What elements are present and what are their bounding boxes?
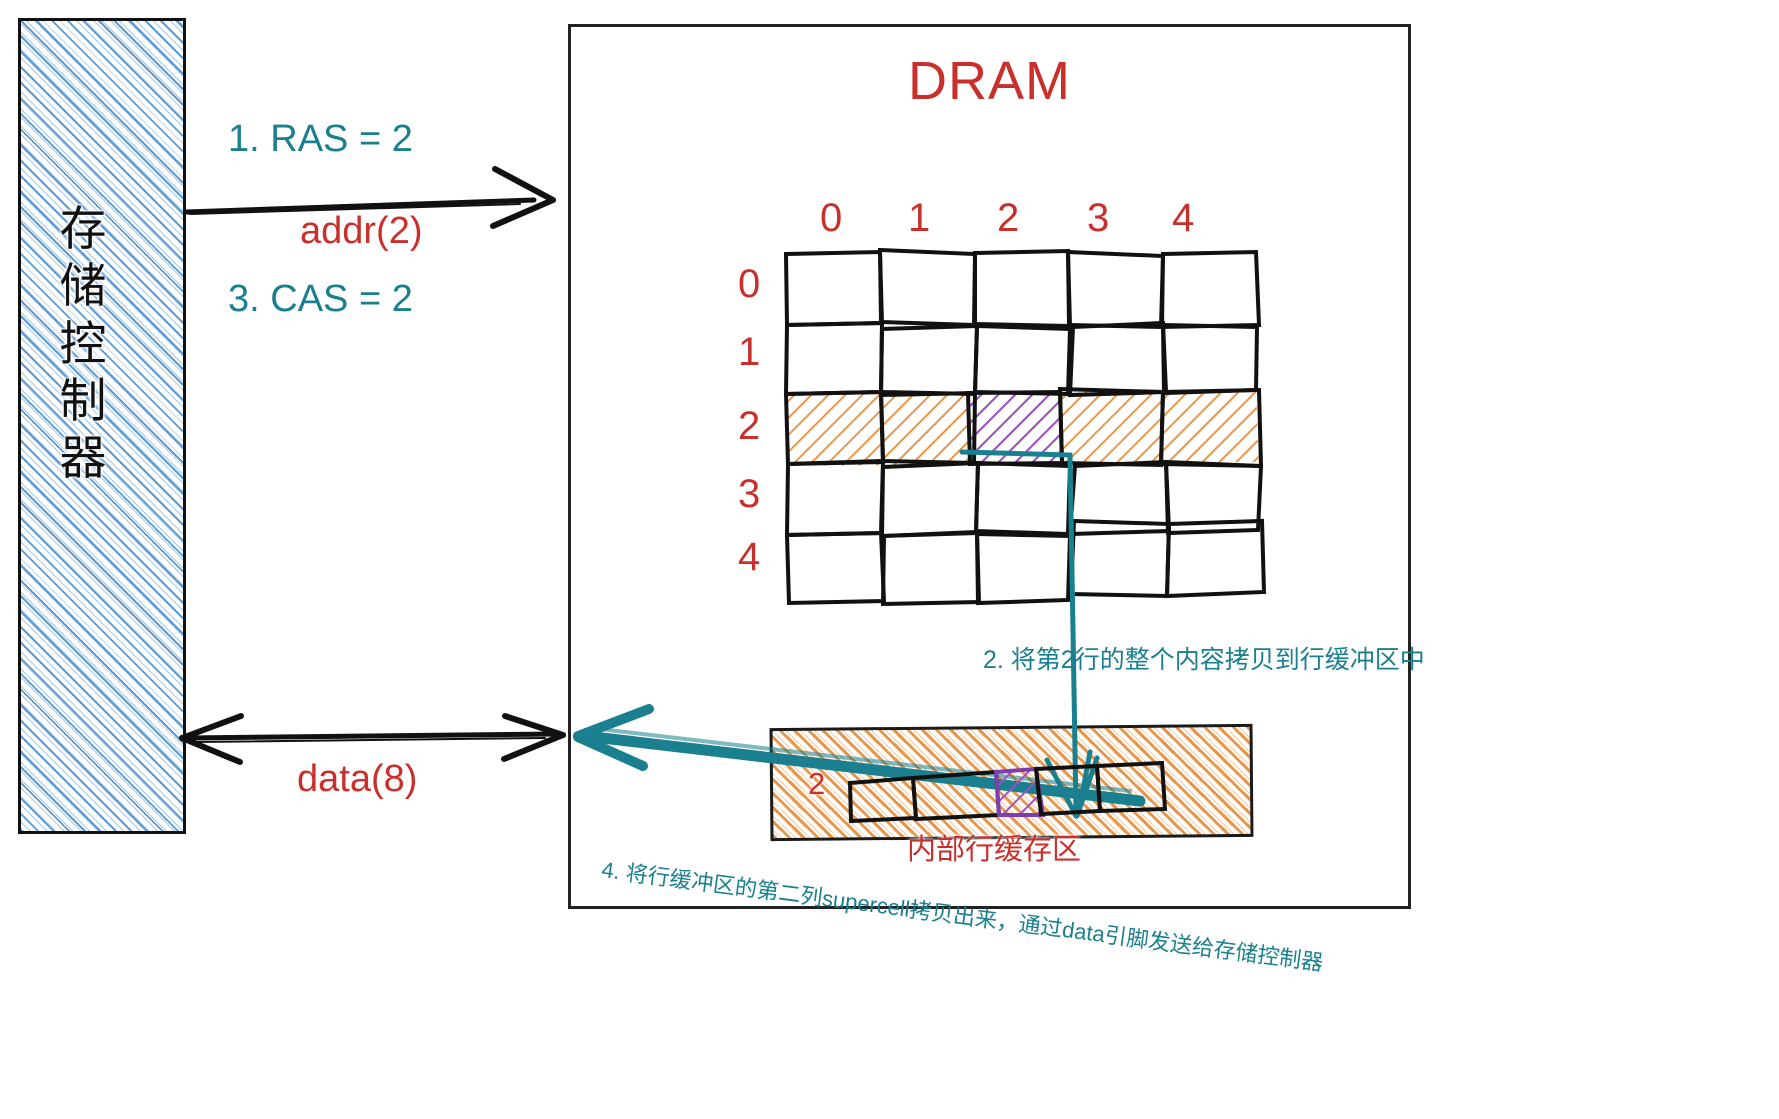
grid-row-label-1: 1 xyxy=(738,330,760,375)
row-buffer-caption: 内部行缓存区 xyxy=(907,826,1081,868)
row-buffer-box xyxy=(770,724,1254,841)
dram-title: DRAM xyxy=(568,50,1411,112)
mem-ctrl-char-2: 控 xyxy=(0,315,168,372)
grid-col-label-0: 0 xyxy=(820,196,842,241)
data-arrow xyxy=(182,716,563,762)
grid-row-label-3: 3 xyxy=(738,472,760,517)
ras-signal-label: 1. RAS = 2 xyxy=(228,118,413,161)
grid-col-label-1: 1 xyxy=(908,196,930,241)
step-2-annotation: 2. 将第2行的整个内容拷贝到行缓冲区中 xyxy=(983,640,1425,676)
memory-controller-label: 存 储 控 制 器 xyxy=(0,200,168,487)
addr-signal-label: addr(2) xyxy=(300,210,423,253)
row-buffer-row-index: 2 xyxy=(808,766,825,802)
mem-ctrl-char-0: 存 xyxy=(0,200,168,257)
grid-row-label-2: 2 xyxy=(738,404,760,449)
mem-ctrl-char-3: 制 xyxy=(0,372,168,429)
grid-col-label-3: 3 xyxy=(1087,196,1109,241)
grid-col-label-2: 2 xyxy=(997,196,1019,241)
grid-col-label-4: 4 xyxy=(1172,196,1194,241)
grid-row-label-4: 4 xyxy=(738,535,760,580)
cas-signal-label: 3. CAS = 2 xyxy=(228,278,413,321)
mem-ctrl-char-1: 储 xyxy=(0,257,168,314)
data-signal-label: data(8) xyxy=(297,758,417,801)
mem-ctrl-char-4: 器 xyxy=(0,429,168,486)
grid-row-label-0: 0 xyxy=(738,262,760,307)
diagram-canvas: 存 储 控 制 器 DRAM 1. RAS = 2 addr(2) 3. CAS… xyxy=(0,0,1779,1119)
